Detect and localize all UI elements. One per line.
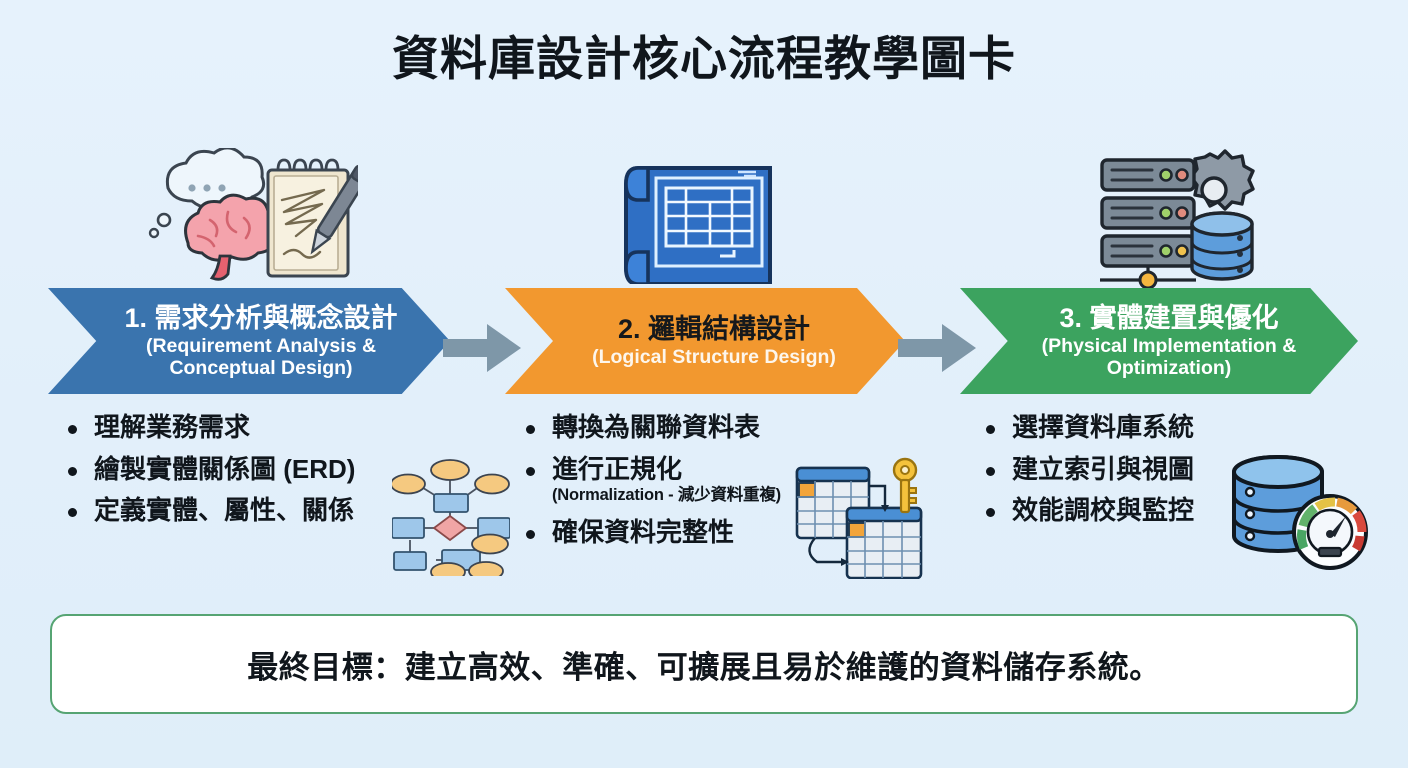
step-1-title-zh: 1. 需求分析與概念設計 (100, 303, 397, 334)
step-banner-row: 1. 需求分析與概念設計 (Requirement Analysis & Con… (0, 288, 1408, 396)
step-3-title-en-line2: Optimization) (1087, 358, 1232, 380)
final-goal-box: 最終目標：建立高效、準確、可擴展且易於維護的資料儲存系統。 (50, 614, 1358, 714)
brain-thought-notepad-icon (128, 148, 358, 293)
blueprint-schema-icon (624, 158, 784, 289)
header-icon-row (0, 0, 1408, 290)
infographic-page: 資料庫設計核心流程教學圖卡 (0, 0, 1408, 768)
server-rack-gear-database-icon (1092, 146, 1257, 296)
bullet-column-3: 選擇資料庫系統 建立索引與視圖 效能調校與監控 (980, 412, 1380, 537)
normalized-tables-key-icon (795, 454, 923, 584)
step-1-title-en-line1: (Requirement Analysis & (122, 336, 376, 358)
step-2-title-zh: 2. 邏輯結構設計 (600, 314, 810, 345)
step-3-title-en-line1: (Physical Implementation & (1022, 336, 1297, 358)
final-goal-text: 最終目標：建立高效、準確、可擴展且易於維護的資料儲存系統。 (247, 642, 1161, 687)
list-item-label: 進行正規化 (552, 454, 682, 484)
step-1-title-en-line2: Conceptual Design) (145, 358, 352, 380)
step-2-title-en-line1: (Logical Structure Design) (574, 347, 836, 369)
list-item: 理解業務需求 (62, 412, 492, 443)
step-3-title-zh: 3. 實體建置與優化 (1039, 303, 1278, 334)
bullet-column-2: 轉換為關聯資料表 進行正規化 (Normalization - 減少資料重複) … (520, 412, 940, 558)
erd-diagram-icon (392, 454, 510, 581)
database-performance-gauge-icon (1230, 452, 1370, 579)
step-banner-2[interactable]: 2. 邏輯結構設計 (Logical Structure Design) (505, 288, 905, 394)
bullet-columns: 理解業務需求 繪製實體關係圖 (ERD) 定義實體、屬性、關係 (0, 412, 1408, 597)
step-banner-3[interactable]: 3. 實體建置與優化 (Physical Implementation & Op… (960, 288, 1358, 394)
connector-arrow-2 (898, 322, 978, 374)
list-item: 選擇資料庫系統 (980, 412, 1380, 443)
list-item: 轉換為關聯資料表 (520, 412, 940, 443)
connector-arrow-1 (443, 322, 523, 374)
step-banner-1[interactable]: 1. 需求分析與概念設計 (Requirement Analysis & Con… (48, 288, 450, 394)
bullet-column-1: 理解業務需求 繪製實體關係圖 (ERD) 定義實體、屬性、關係 (62, 412, 492, 537)
